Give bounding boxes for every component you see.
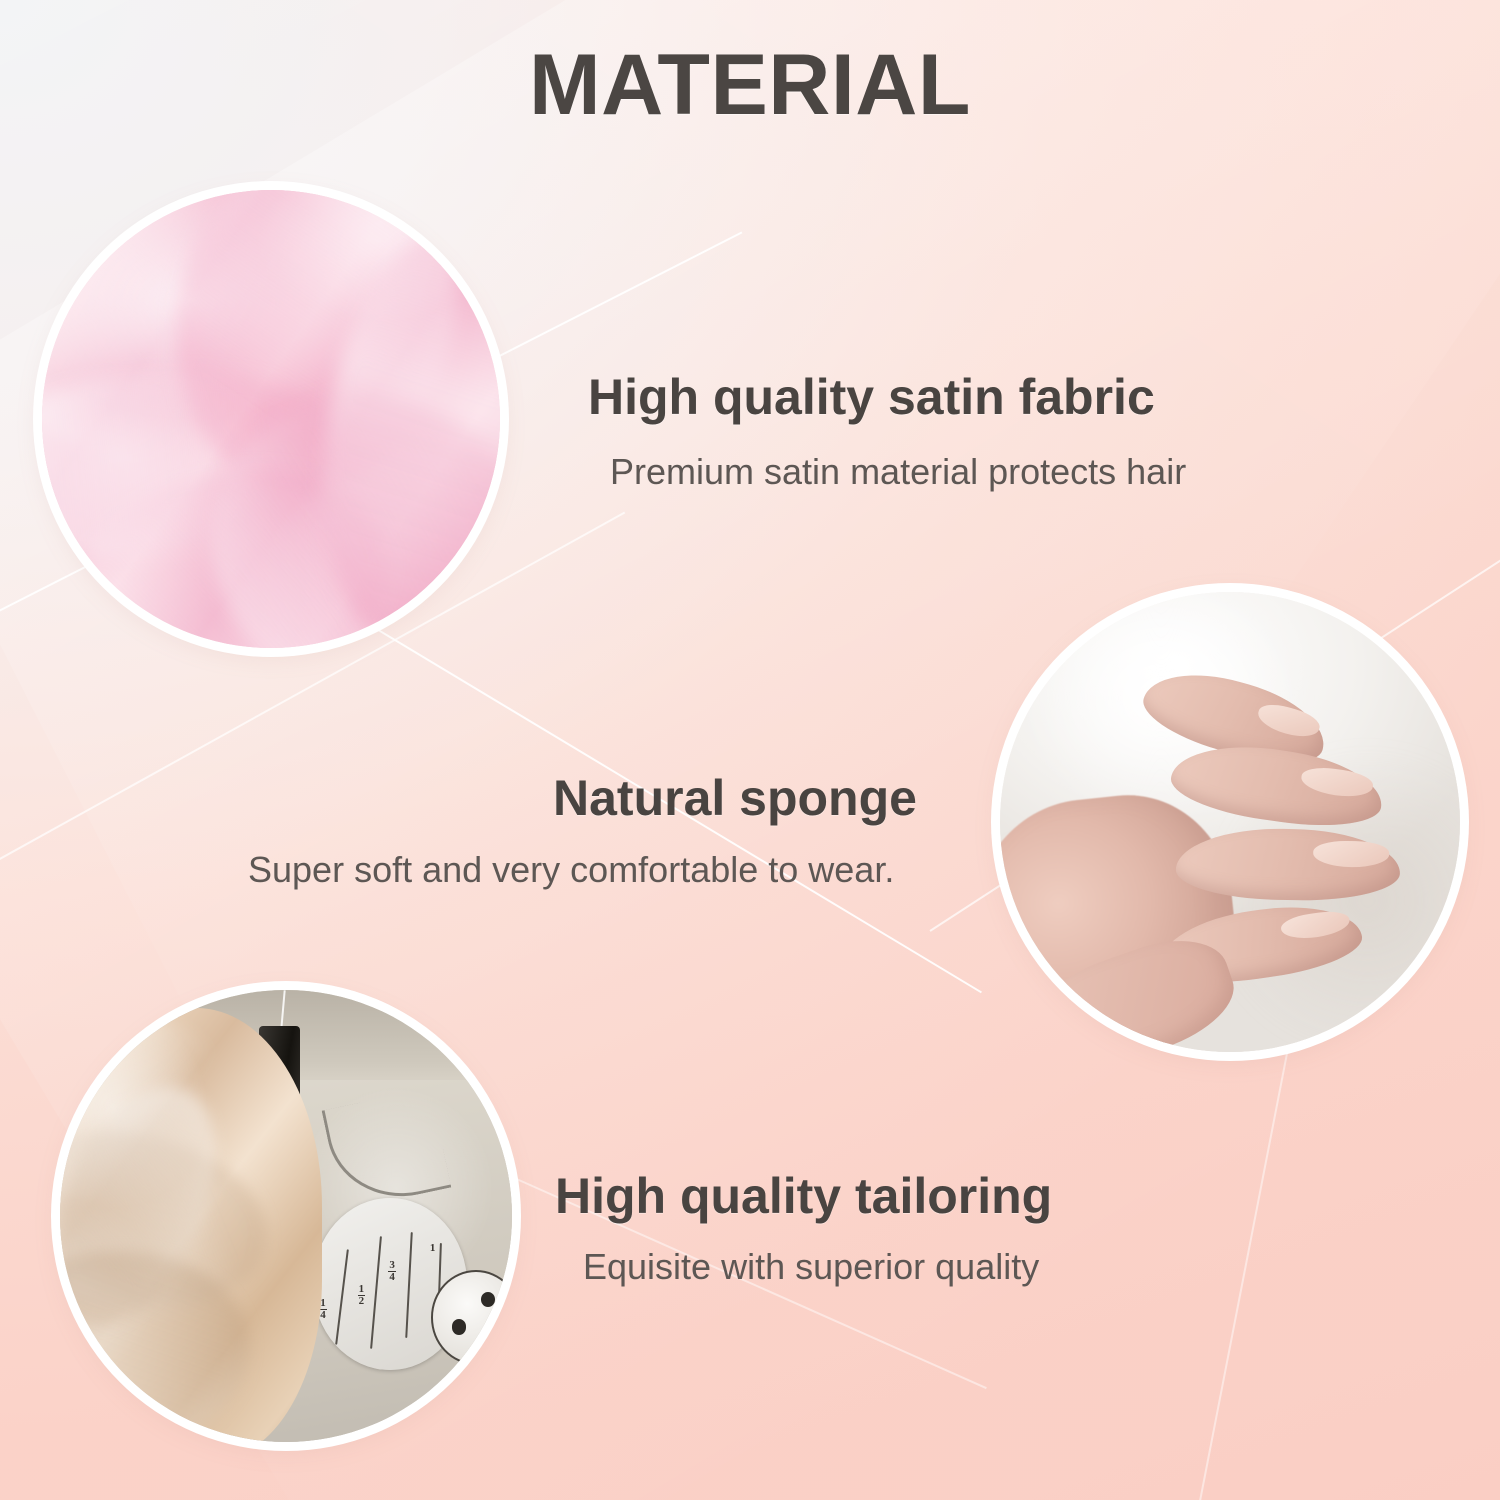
feature-subtitle-tailoring: Equisite with superior quality	[583, 1246, 1039, 1288]
seam-guide-line-3	[406, 1232, 414, 1338]
feature-subtitle-satin-fabric: Premium satin material protects hair	[610, 451, 1186, 493]
needle-plate-mark-one: 1	[430, 1243, 436, 1254]
champagne-satin-fabric	[60, 1008, 322, 1442]
feature-image-satin-fabric	[42, 190, 500, 648]
hand-pressing-sponge-photo	[1000, 592, 1460, 1052]
seam-guide-line-2	[370, 1236, 382, 1349]
feature-title-tailoring: High quality tailoring	[555, 1167, 1052, 1225]
feature-subtitle-natural-sponge: Super soft and very comfortable to wear.	[248, 849, 894, 891]
fingernail-middle	[1300, 765, 1375, 800]
sewing-machine-photo: 14 12 34 1	[60, 990, 512, 1442]
page-title: MATERIAL	[0, 36, 1500, 135]
fingernail-pinky	[1279, 909, 1351, 943]
needle-plate-mark-three-quarter: 34	[388, 1260, 396, 1283]
hand	[1000, 730, 1396, 1052]
feature-title-natural-sponge: Natural sponge	[553, 769, 917, 827]
needle-plate-mark-half: 12	[358, 1284, 366, 1307]
bobbin-hole-2	[481, 1292, 496, 1307]
fingernail-ring	[1312, 841, 1389, 868]
bobbin-cover-plate	[431, 1270, 512, 1364]
pink-satin-fabric-photo	[42, 190, 500, 648]
feature-image-natural-sponge	[1000, 592, 1460, 1052]
infographic-canvas: MATERIAL High quality satin fabric Premi…	[0, 0, 1500, 1500]
feature-title-satin-fabric: High quality satin fabric	[588, 368, 1155, 426]
finger-middle	[1167, 736, 1386, 836]
seam-guide-line-1	[335, 1250, 349, 1346]
bobbin-hole-1	[452, 1319, 467, 1334]
feature-image-tailoring: 14 12 34 1	[60, 990, 512, 1442]
